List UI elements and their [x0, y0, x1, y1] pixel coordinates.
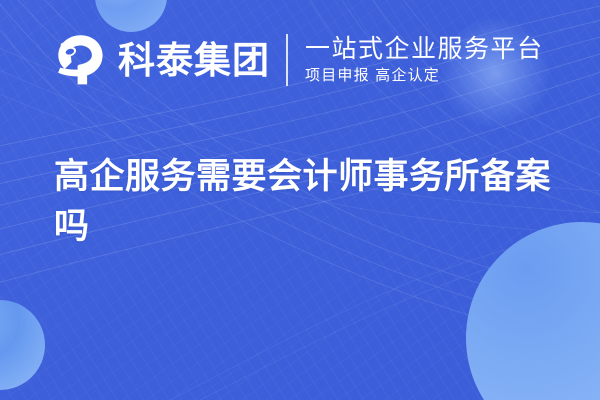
header-lockup: 科泰集团 一站式企业服务平台 项目申报 高企认定: [52, 28, 544, 92]
ketai-brand-logo-icon: [52, 32, 108, 88]
tagline-secondary: 项目申报 高企认定: [305, 68, 544, 85]
brand-name: 科泰集团: [118, 42, 270, 79]
tagline-primary: 一站式企业服务平台: [305, 35, 544, 63]
header-divider: [286, 34, 288, 86]
page-title: 高企服务需要会计师事务所备案吗: [54, 152, 554, 251]
tagline-block: 一站式企业服务平台 项目申报 高企认定: [305, 35, 544, 85]
promo-banner: 科泰集团 一站式企业服务平台 项目申报 高企认定 高企服务需要会计师事务所备案吗: [0, 0, 600, 400]
sphere-bottom-left: [0, 300, 45, 390]
